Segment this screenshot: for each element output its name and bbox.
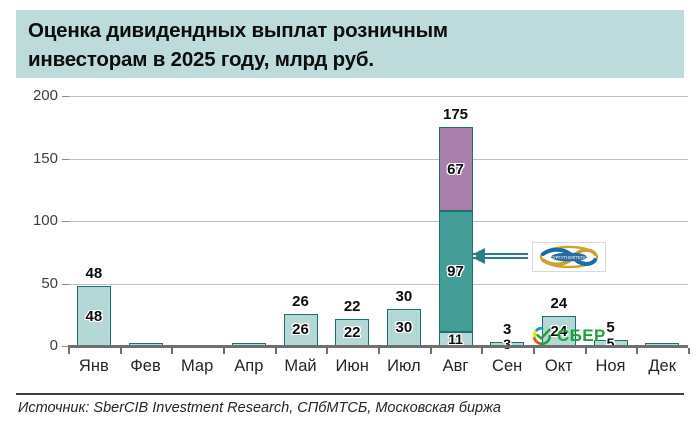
bar-июл[interactable]: 3030 xyxy=(387,309,421,347)
callout-arrow-sber xyxy=(473,248,529,260)
x-axis-label-июн: Июн xyxy=(326,357,378,376)
x-axis-label-авг: Авг xyxy=(430,357,482,376)
bar-segment-value: 26 xyxy=(292,322,309,337)
x-axis-label-ноя: Ноя xyxy=(585,357,637,376)
x-axis-tick-mark xyxy=(481,348,483,354)
sber-logo: СБЕР xyxy=(532,326,606,346)
bar-segment[interactable]: 48 xyxy=(77,286,111,346)
bar-chart: 050100150200 484826262222303011976717533… xyxy=(0,82,700,387)
bar-segment-value: 22 xyxy=(344,325,361,340)
page-title-line-2: инвесторам в 2025 году, млрд руб. xyxy=(28,45,684,74)
plot-area: 484826262222303011976717533242455 xyxy=(68,96,688,346)
x-axis-tick-mark xyxy=(585,348,587,354)
bar-segment-value: 30 xyxy=(395,320,412,335)
x-axis-label-фев: Фев xyxy=(120,357,172,376)
bar-total-label: 5 xyxy=(606,319,614,336)
bar-июн[interactable]: 2222 xyxy=(335,319,369,347)
bar-segment[interactable]: 97 xyxy=(439,211,473,332)
source-note: Источник: SberCIB Investment Research, С… xyxy=(18,400,501,416)
bar-segment[interactable]: 30 xyxy=(387,309,421,347)
x-axis-tick-mark xyxy=(378,348,380,354)
footer-divider xyxy=(16,393,684,395)
bar-segment[interactable]: 67 xyxy=(439,127,473,211)
x-axis-tick-mark xyxy=(688,348,690,354)
y-axis-tick-mark xyxy=(62,221,69,222)
gridline xyxy=(68,284,688,285)
sber-check-icon xyxy=(532,326,552,346)
bar-segment-value: 48 xyxy=(85,309,102,324)
x-axis-tick-mark xyxy=(275,348,277,354)
x-axis-tick-mark xyxy=(171,348,173,354)
bar-segment[interactable]: 26 xyxy=(284,314,318,347)
x-axis-label-окт: Окт xyxy=(533,357,585,376)
bar-total-label: 30 xyxy=(395,288,412,305)
x-axis-tick-mark xyxy=(326,348,328,354)
bar-янв[interactable]: 4848 xyxy=(77,286,111,346)
x-axis-label-янв: Янв xyxy=(68,357,120,376)
chart-title-band: Оценка дивидендных выплат розничным инве… xyxy=(16,10,684,78)
y-axis-tick-label: 50 xyxy=(12,275,58,292)
surgutneftegas-emblem-icon: СУРГУТНЕФТЕГАЗ xyxy=(539,245,599,269)
y-axis-tick-mark xyxy=(62,96,69,97)
x-axis-tick-mark xyxy=(68,348,70,354)
x-axis-tick-mark xyxy=(430,348,432,354)
surgutneftegas-logo-icon: СУРГУТНЕФТЕГАЗ xyxy=(532,242,606,272)
page-title-line-1: Оценка дивидендных выплат розничным xyxy=(28,16,684,45)
gridline xyxy=(68,159,688,160)
bar-total-label: 22 xyxy=(344,298,361,315)
bar-segment-value: 67 xyxy=(447,162,464,177)
bar-total-label: 175 xyxy=(443,106,468,123)
y-axis-tick-label: 150 xyxy=(12,150,58,167)
x-axis-tick-mark xyxy=(533,348,535,354)
svg-text:СУРГУТНЕФТЕГАЗ: СУРГУТНЕФТЕГАЗ xyxy=(550,255,589,260)
x-axis-label-сен: Сен xyxy=(481,357,533,376)
bar-total-label: 48 xyxy=(85,265,102,282)
bar-total-label: 26 xyxy=(292,293,309,310)
x-axis-tick-mark xyxy=(223,348,225,354)
x-axis-label-апр: Апр xyxy=(223,357,275,376)
bar-segment[interactable]: 11 xyxy=(439,332,473,346)
gridline xyxy=(68,96,688,97)
x-axis-label-дек: Дек xyxy=(636,357,688,376)
x-axis-label-мар: Мар xyxy=(171,357,223,376)
y-axis-tick-label: 100 xyxy=(12,212,58,229)
bar-total-label: 24 xyxy=(550,295,567,312)
arrow-head xyxy=(473,248,485,260)
gridline xyxy=(68,221,688,222)
bar-total-label: 3 xyxy=(503,321,511,338)
sber-check-svg xyxy=(532,326,552,346)
bar-май[interactable]: 2626 xyxy=(284,314,318,347)
y-axis-tick-mark xyxy=(62,284,69,285)
y-axis-tick-label: 0 xyxy=(12,337,58,354)
x-axis-tick-mark xyxy=(636,348,638,354)
sber-logo-label: СБЕР xyxy=(557,326,606,346)
x-axis-tick-mark xyxy=(120,348,122,354)
x-axis-label-июл: Июл xyxy=(378,357,430,376)
y-axis-tick-label: 200 xyxy=(12,87,58,104)
bar-segment[interactable]: 22 xyxy=(335,319,369,347)
x-axis-label-май: Май xyxy=(275,357,327,376)
bar-segment-value: 97 xyxy=(447,264,464,279)
bar-авг[interactable]: 119767175 xyxy=(439,127,473,346)
y-axis-tick-mark xyxy=(62,346,69,347)
y-axis-tick-mark xyxy=(62,159,69,160)
y-axis: 050100150200 xyxy=(6,96,58,346)
